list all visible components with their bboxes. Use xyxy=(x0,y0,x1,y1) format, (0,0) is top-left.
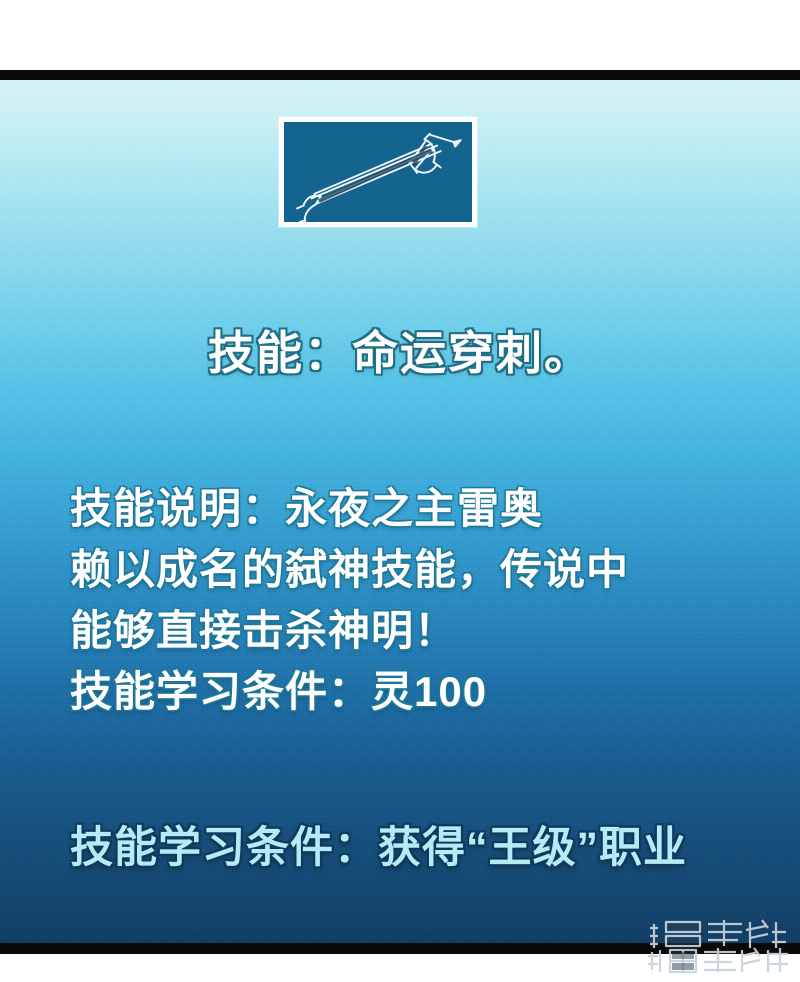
skill-description-line: 技能学习条件：灵100 xyxy=(70,661,730,722)
bottom-black-divider xyxy=(0,943,800,954)
skill-learning-condition: 技能学习条件：获得“王级”职业 xyxy=(70,818,770,878)
comic-page: 技能：命运穿刺。 技能说明：永夜之主雷奥 赖以成名的弑神技能，传说中 能够直接击… xyxy=(0,0,800,982)
comic-panel: 技能：命运穿刺。 技能说明：永夜之主雷奥 赖以成名的弑神技能，传说中 能够直接击… xyxy=(0,80,800,943)
skill-text-layer: 技能：命运穿刺。 技能说明：永夜之主雷奥 赖以成名的弑神技能，传说中 能够直接击… xyxy=(0,80,800,943)
skill-description-line: 赖以成名的弑神技能，传说中 xyxy=(70,539,730,600)
skill-description-line: 能够直接击杀神明！ xyxy=(70,600,730,661)
skill-title: 技能：命运穿刺。 xyxy=(0,328,800,379)
skill-description-line: 技能说明：永夜之主雷奥 xyxy=(70,478,730,539)
bottom-white-margin xyxy=(0,954,800,982)
skill-description-block: 技能说明：永夜之主雷奥 赖以成名的弑神技能，传说中 能够直接击杀神明！ 技能学习… xyxy=(70,478,730,722)
top-white-margin xyxy=(0,0,800,70)
top-black-divider xyxy=(0,70,800,80)
